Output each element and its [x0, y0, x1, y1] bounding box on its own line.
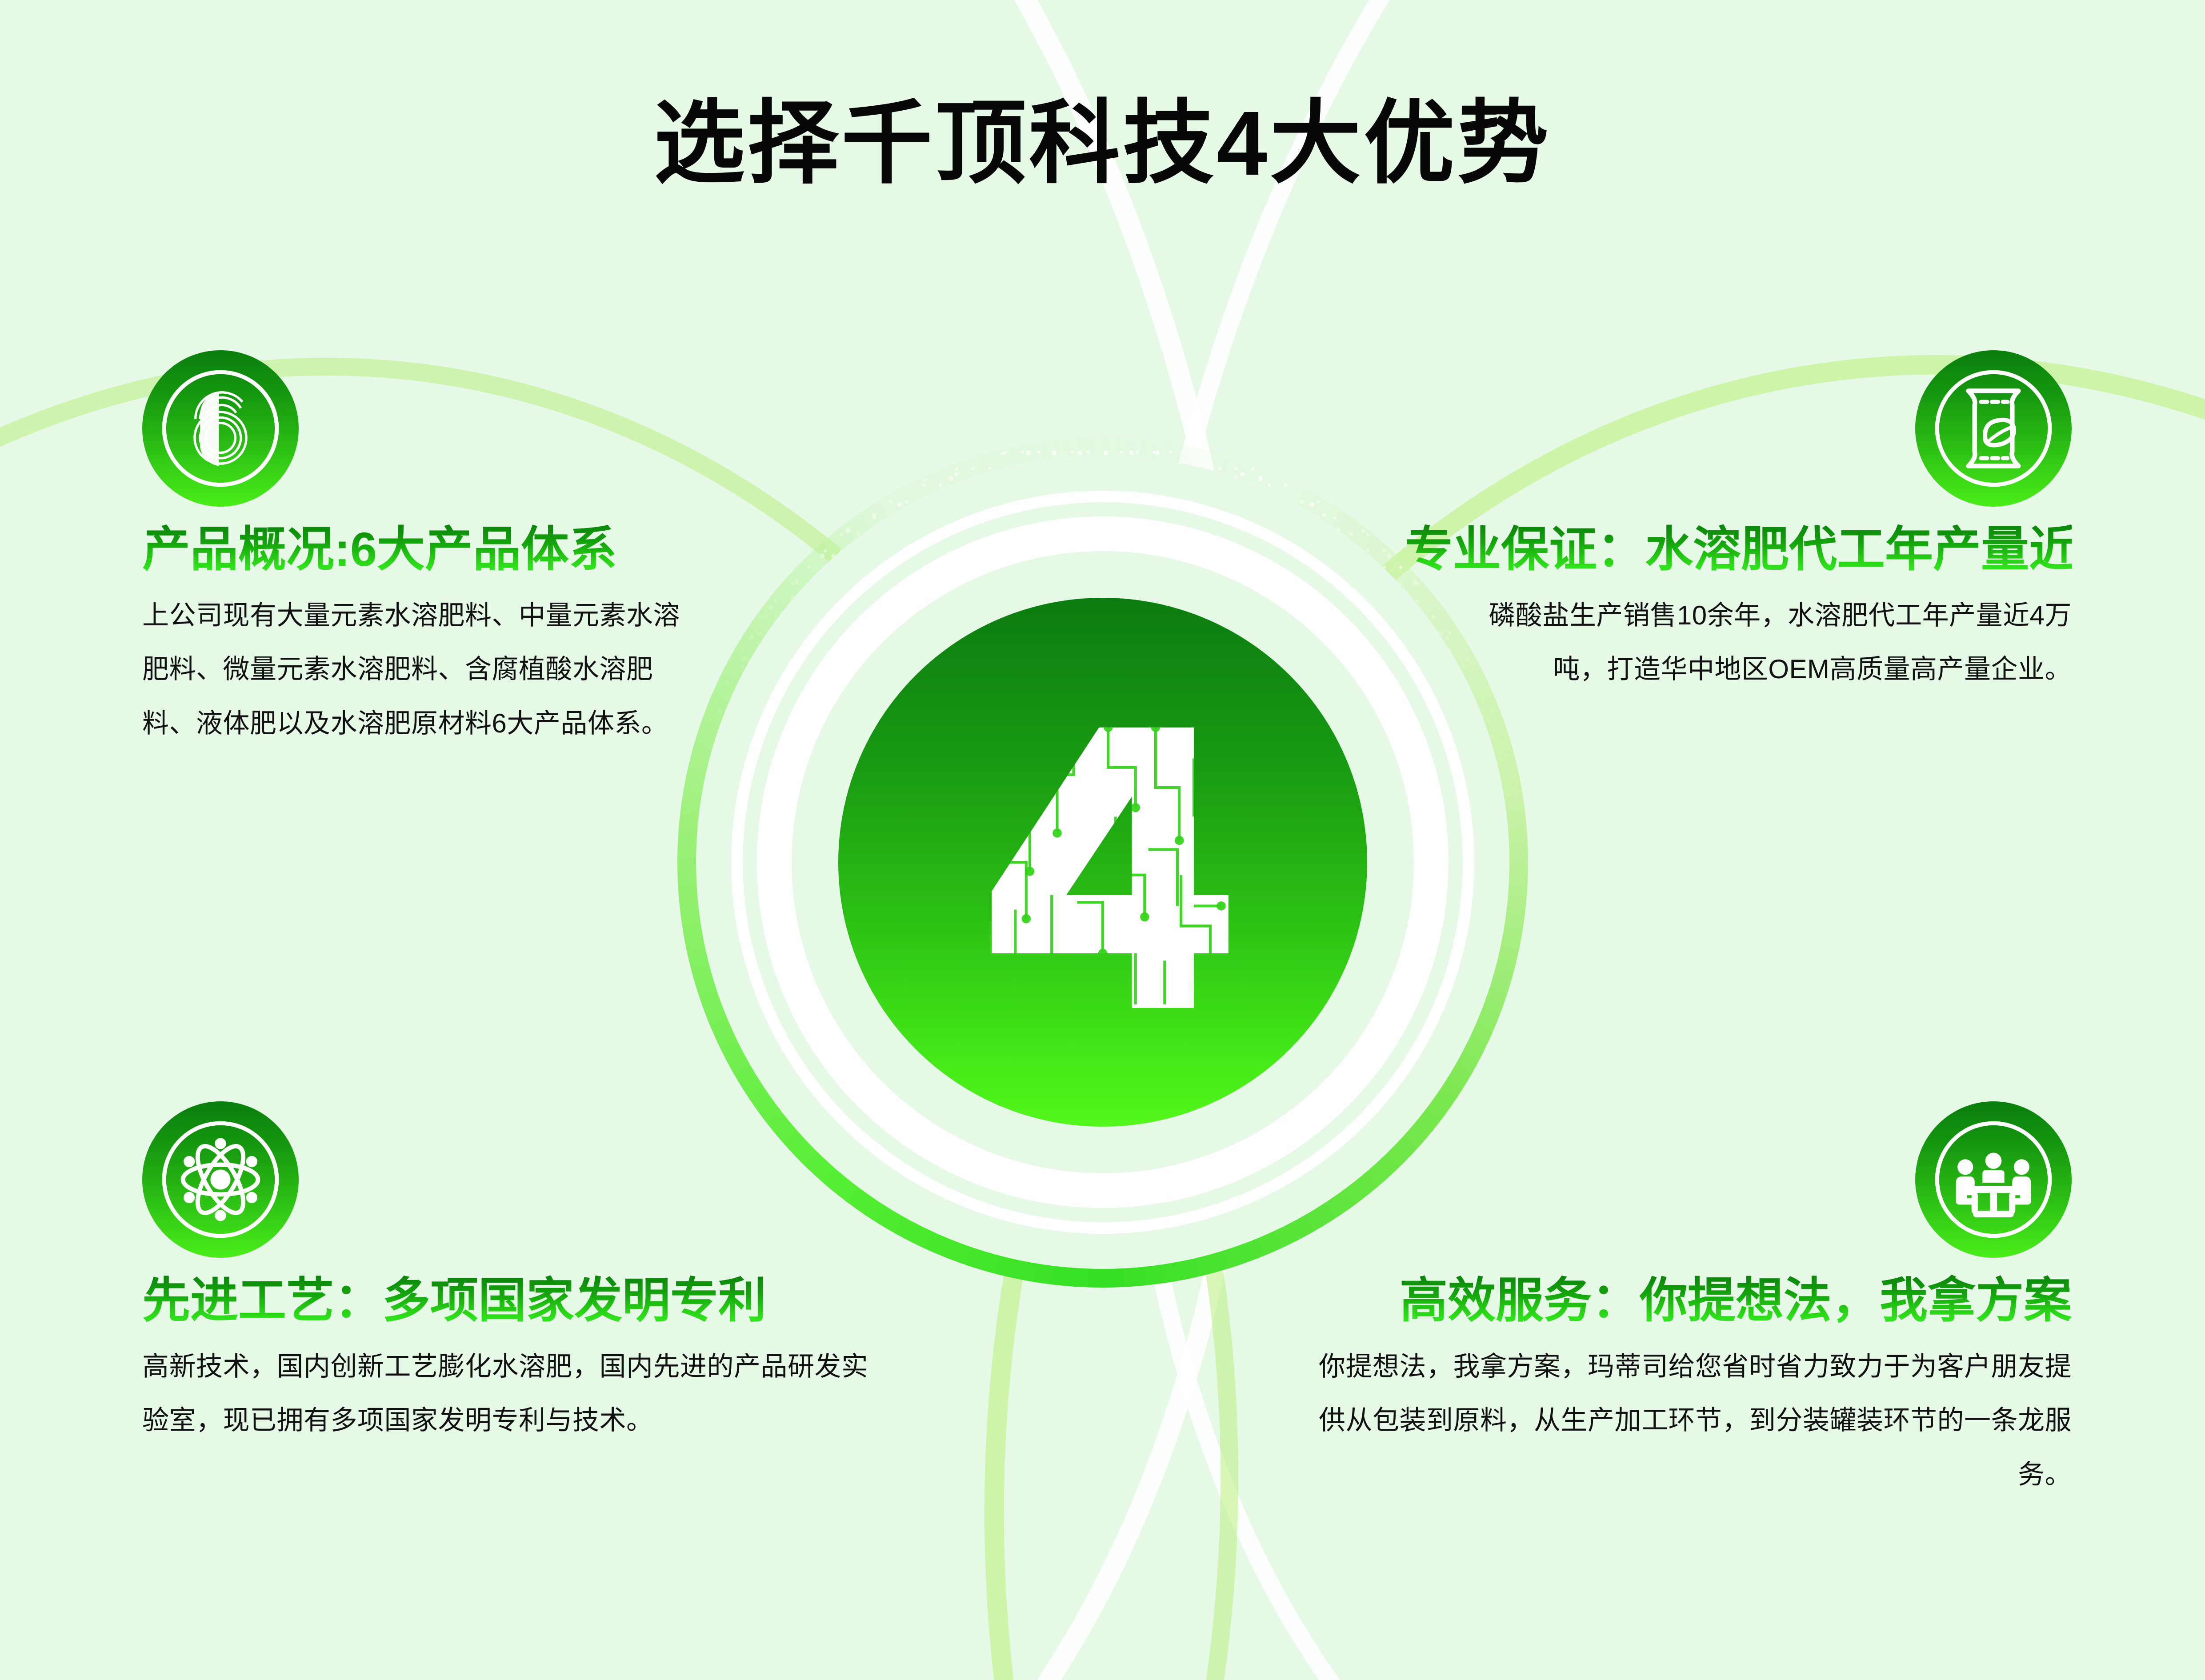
advantage-body: 你提想法，我拿方案，玛蒂司给您省时省力致力于为客户朋友提供从包装到原料，从生产加…: [1316, 1340, 2072, 1501]
advantage-heading: 产品概况:6大产品体系: [142, 522, 764, 577]
meeting-table-icon: [1915, 1101, 2072, 1258]
fertilizer-bag-icon: [1915, 350, 2072, 507]
infographic-poster: 选择千顶科技4大优势 产品概: [0, 0, 2205, 1680]
advantage-body: 磷酸盐生产销售10余年，水溶肥代工年产量近4万吨，打造华中地区OEM高质量高产量…: [1476, 588, 2072, 696]
circuit-number-four-icon: [920, 680, 1285, 1044]
center-number-disc: [838, 598, 1367, 1127]
advantage-card-bottom-right: 高效服务：你提想法，我拿方案 你提想法，我拿方案，玛蒂司给您省时省力致力于为客户…: [1289, 1101, 2072, 1501]
advantage-card-bottom-left: 先进工艺：多项国家发明专利 高新技术，国内创新工艺膨化水溶肥，国内先进的产品研发…: [142, 1101, 898, 1448]
advantage-heading: 高效服务：你提想法，我拿方案: [1289, 1273, 2072, 1328]
page-title: 选择千顶科技4大优势: [0, 96, 2205, 191]
atom-icon: [142, 1101, 299, 1258]
advantage-body: 高新技术，国内创新工艺膨化水溶肥，国内先进的产品研发实验室，现已拥有多项国家发明…: [142, 1340, 871, 1447]
advantage-card-top-left: 产品概况:6大产品体系 上公司现有大量元素水溶肥料、中量元素水溶肥料、微量元素水…: [142, 350, 764, 750]
advantage-card-top-right: 专业保证：水溶肥代工年产量近4万吨 磷酸盐生产销售10余年，水溶肥代工年产量近4…: [1405, 350, 2072, 696]
number-six-icon: [142, 350, 299, 507]
advantage-body: 上公司现有大量元素水溶肥料、中量元素水溶肥料、微量元素水溶肥料、含腐植酸水溶肥料…: [142, 588, 689, 750]
advantage-heading: 专业保证：水溶肥代工年产量近4万吨: [1405, 522, 2072, 577]
advantage-heading: 先进工艺：多项国家发明专利: [142, 1273, 898, 1328]
